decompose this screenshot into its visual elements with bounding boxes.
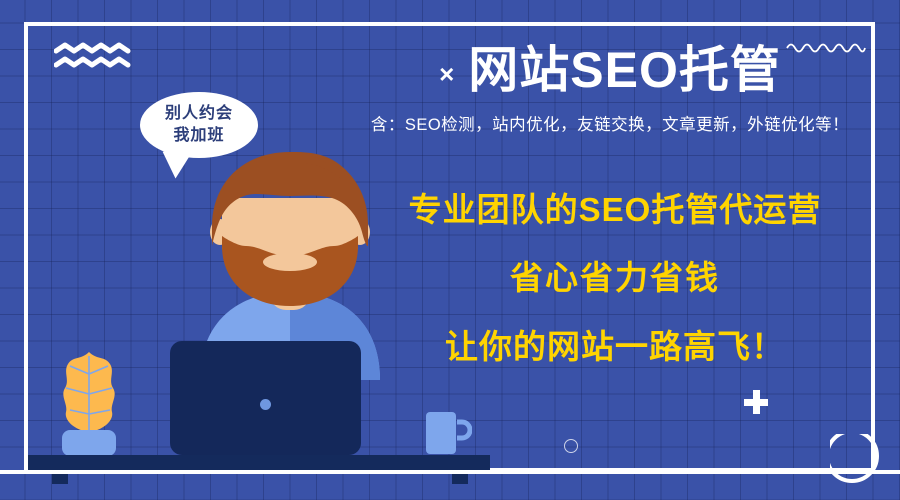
laptop-icon [170,341,361,455]
times-mark-icon: × [439,61,454,87]
small-ring-icon [564,439,578,453]
speech-bubble-line-2: 我加班 [173,125,224,147]
floor-line [0,470,900,474]
slogan-line-3: 让你的网站一路高飞！ [370,329,860,365]
seo-hosting-banner: × 网站SEO托管 含：SEO检测，站内优化，友链交换，文章更新，外链优化等！ … [0,0,900,500]
slogan-line-2: 省心省力省钱 [370,260,860,296]
page-subtitle: 含：SEO检测，站内优化，友链交换，文章更新，外链优化等！ [330,111,890,135]
coffee-mug-icon [424,408,472,456]
page-title: 网站SEO托管 [468,44,781,97]
slogan-line-1: 专业团队的SEO托管代运营 [370,192,860,228]
zigzag-wave-icon [54,42,132,72]
laptop-logo-dot-icon [260,399,271,410]
speech-bubble-line-1: 别人约会 [165,103,233,125]
title-row: × 网站SEO托管 [330,44,890,97]
potted-plant-icon [58,348,120,456]
headline-block: × 网站SEO托管 含：SEO检测，站内优化，友链交换，文章更新，外链优化等！ [330,44,890,135]
circle-outline-icon [830,434,900,500]
plus-icon [744,390,768,414]
speech-bubble: 别人约会 我加班 [140,92,258,158]
slogan-block: 专业团队的SEO托管代运营 省心省力省钱 让你的网站一路高飞！ [370,192,860,365]
